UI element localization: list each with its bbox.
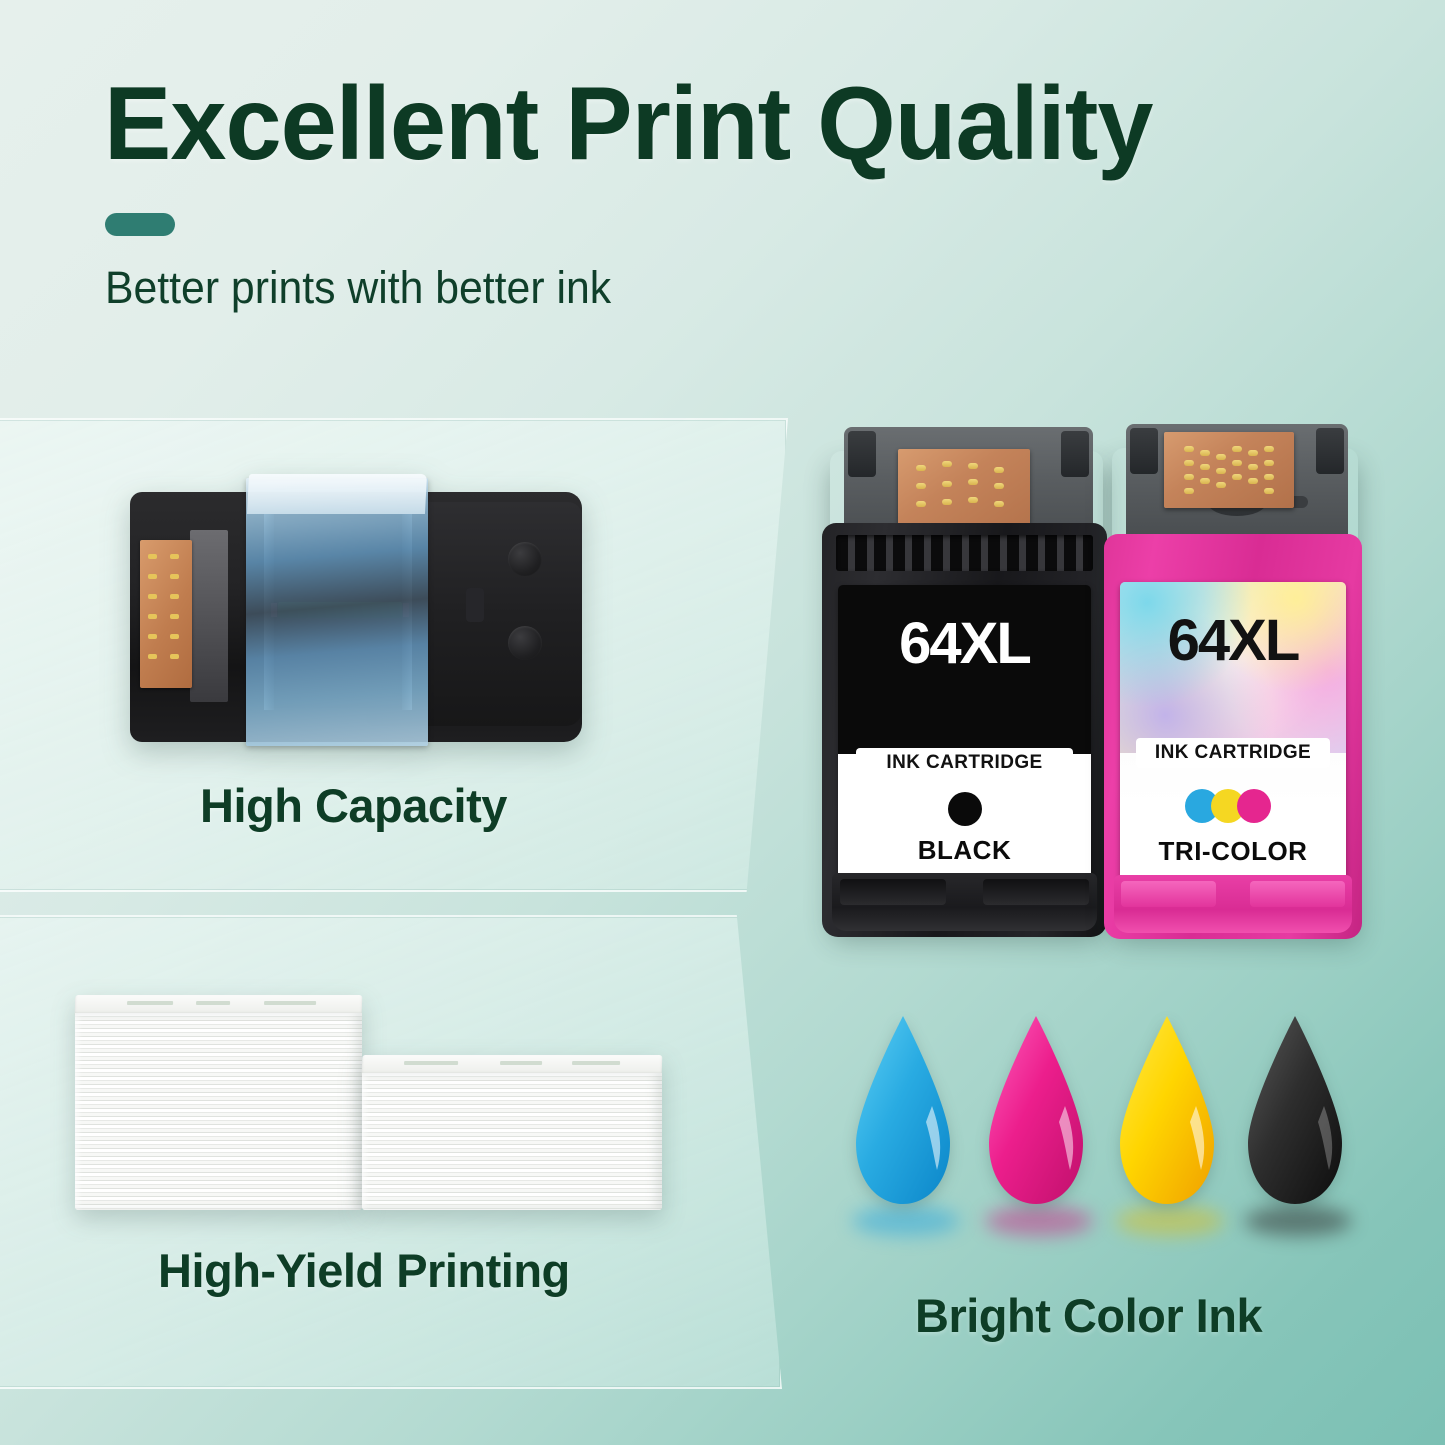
page-subtitle: Better prints with better ink: [105, 262, 611, 314]
cartridge-black: Don't remove this chip 64XL INK CARTRIDG…: [822, 427, 1107, 937]
product-infographic: Excellent Print Quality Better prints wi…: [0, 0, 1445, 1445]
cartridge-label-black: 64XL INK CARTRIDGE BLACK: [838, 585, 1091, 881]
black-drop: [1240, 1010, 1350, 1210]
model-number-tricolor: 64XL: [1120, 612, 1346, 670]
cartridge-label-tricolor: 64XL INK CARTRIDGE TRI-COLOR: [1120, 582, 1346, 882]
black-ink-swatch: [948, 792, 982, 826]
page-title: Excellent Print Quality: [104, 72, 1268, 176]
cartridge-tricolor: 64XL INK CARTRIDGE TRI-COLOR: [1104, 424, 1362, 939]
caption-high-yield: High-Yield Printing: [158, 1243, 570, 1298]
tricolor-ink-swatches: [1185, 789, 1281, 823]
accent-pill-divider: [105, 213, 175, 236]
ink-cartridge-badge-black: INK CARTRIDGE: [856, 748, 1074, 778]
ink-kind-black: BLACK: [838, 835, 1091, 866]
printhead-photo: PET-GF15-PUR: [130, 478, 582, 750]
ink-cartridge-badge-tricolor: INK CARTRIDGE: [1136, 738, 1330, 768]
protective-tape: [246, 478, 428, 746]
caption-bright-color-ink: Bright Color Ink: [915, 1288, 1262, 1343]
ink-kind-tricolor: TRI-COLOR: [1120, 836, 1346, 867]
cartridge-chip-tricolor: [1164, 432, 1294, 508]
caption-high-capacity: High Capacity: [200, 778, 507, 833]
printhead-chip: [140, 540, 192, 688]
paper-stack-large: [75, 995, 362, 1210]
magenta-drop: [981, 1010, 1091, 1210]
cartridge-vents: [836, 535, 1093, 571]
cyan-drop: [848, 1010, 958, 1210]
ink-drops-group: [840, 1010, 1360, 1250]
paper-stack-small: [362, 1055, 662, 1210]
yellow-drop: [1112, 1010, 1222, 1210]
model-number-black: 64XL: [838, 615, 1091, 673]
